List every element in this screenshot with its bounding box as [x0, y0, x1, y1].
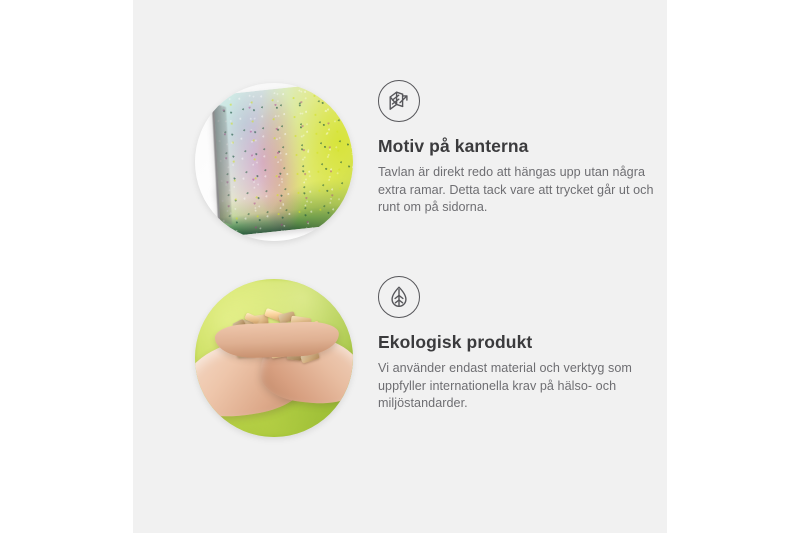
feature-text-column: Motiv på kanterna Tavlan är direkt redo …	[378, 78, 664, 217]
canvas-wrapped-edges-icon	[378, 80, 420, 122]
feature-description: Tavlan är direkt redo att hängas upp uta…	[378, 164, 664, 217]
feature-row-ekologisk-produkt: Ekologisk produkt Vi använder endast mat…	[190, 274, 664, 444]
leaf-icon	[378, 276, 420, 318]
canvas-print-front-face	[214, 83, 353, 237]
feature-image-canvas-corner	[190, 78, 360, 248]
feature-row-motiv-pa-kanterna: Motiv på kanterna Tavlan är direkt redo …	[190, 78, 664, 248]
feature-image-hands-wood-chips	[190, 274, 360, 444]
eco-photo-circle	[195, 279, 353, 437]
canvas-photo-circle	[195, 83, 353, 241]
canvas-paint-speckle	[214, 83, 353, 237]
feature-description: Vi använder endast material och verktyg …	[378, 360, 664, 413]
feature-title: Motiv på kanterna	[378, 136, 664, 157]
feature-text-column: Ekologisk produkt Vi använder endast mat…	[378, 274, 664, 413]
product-feature-banner: Motiv på kanterna Tavlan är direkt redo …	[0, 0, 800, 533]
feature-title: Ekologisk produkt	[378, 332, 664, 353]
